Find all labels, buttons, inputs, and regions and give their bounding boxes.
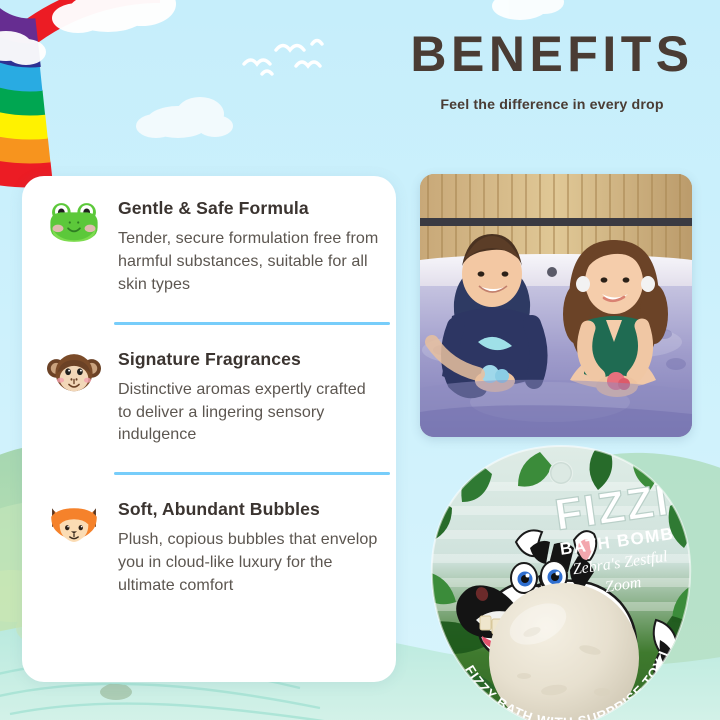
feature-divider-1 [114, 322, 390, 325]
feature-description: Tender, secure formulation free from har… [118, 227, 382, 296]
feature-item-gentle-safe-formula: Gentle & Safe Formula Tender, secure for… [44, 198, 382, 296]
monkey-face-icon [46, 351, 102, 403]
girl [563, 240, 668, 397]
kids-in-bathtub-photo [420, 174, 692, 437]
fox-face-icon [46, 501, 102, 553]
benefits-infographic-page: BENEFITS Feel the difference in every dr… [0, 0, 720, 720]
benefits-card: Gentle & Safe Formula Tender, secure for… [22, 176, 396, 682]
frog-face-icon [46, 200, 102, 252]
fizzi-bath-bomb-hangtag: FIZZI BATH BOMB Zebra's Zestful Zoom [420, 444, 702, 720]
feature-title: Signature Fragrances [118, 349, 382, 370]
feature-description: Plush, copious bubbles that envelop you … [118, 528, 382, 597]
feature-title: Gentle & Safe Formula [118, 198, 382, 219]
cloud-icon-top [52, 0, 176, 33]
page-title: BENEFITS [396, 28, 708, 81]
cloud-icon-mid [136, 97, 233, 138]
cloud-icon-topright [492, 0, 564, 20]
header: BENEFITS Feel the difference in every dr… [396, 28, 708, 113]
feature-description: Distinctive aromas expertly crafted to d… [118, 378, 382, 447]
feature-divider-2 [114, 472, 390, 475]
feature-item-soft-abundant-bubbles: Soft, Abundant Bubbles Plush, copious bu… [44, 499, 382, 597]
feature-item-signature-fragrances: Signature Fragrances Distinctive aromas … [44, 349, 382, 447]
birds-icon [244, 41, 322, 75]
page-subtitle: Feel the difference in every drop [396, 97, 708, 113]
feature-title: Soft, Abundant Bubbles [118, 499, 382, 520]
